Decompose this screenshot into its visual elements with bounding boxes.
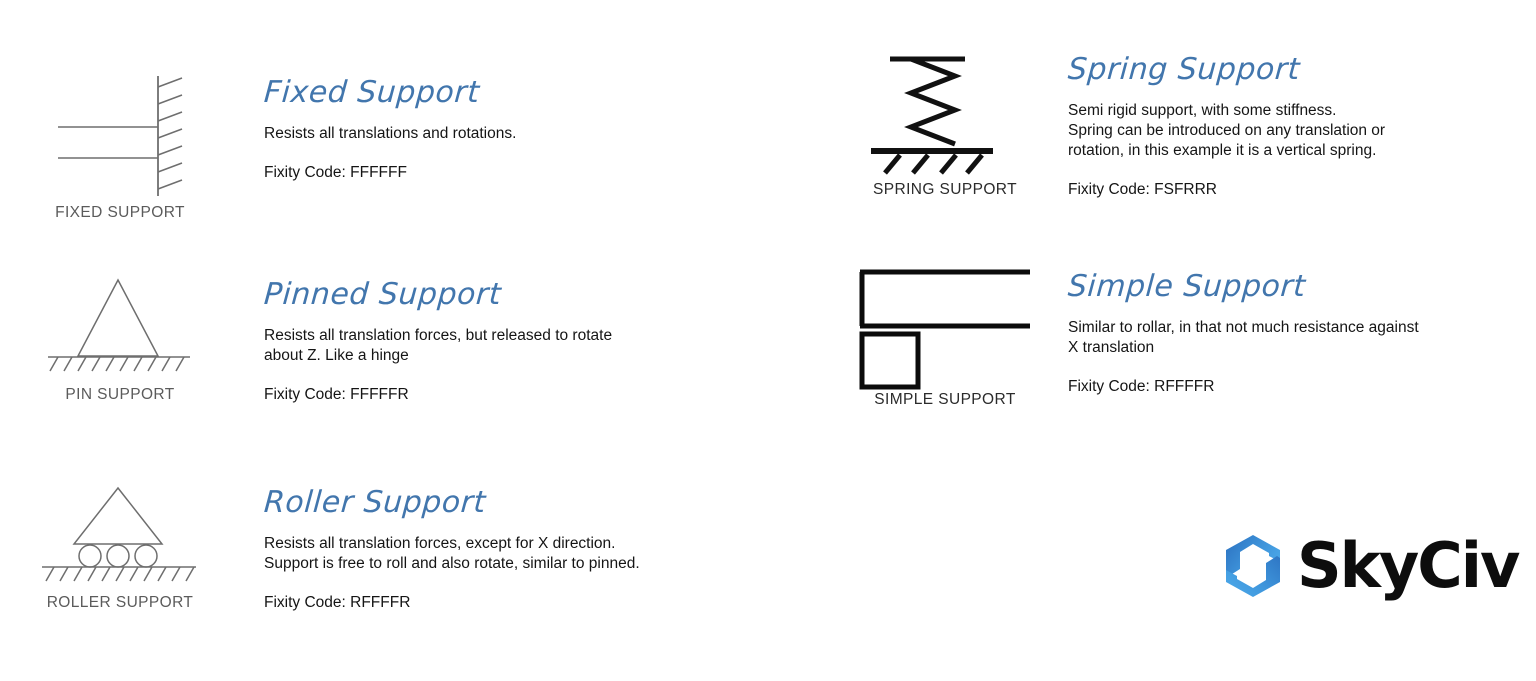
pin-support-text-group: Pinned Support Resists all translation f… <box>264 280 824 405</box>
simple-support-title: Simple Support <box>1067 272 1536 302</box>
simple-support-symbol <box>845 265 1045 390</box>
fixed-support-text-group: Fixed Support Resists all translations a… <box>264 78 824 183</box>
spring-support-fixity-code: Fixity Code: FSFRRR <box>1068 180 1528 200</box>
spring-support-title: Spring Support <box>1067 55 1529 85</box>
simple-support-description: Similar to rollar, in that not much resi… <box>1068 318 1536 358</box>
roller-support-symbol-group: ROLLER SUPPORT <box>10 478 230 612</box>
roller-support-title: Roller Support <box>263 488 865 518</box>
fixed-support-description: Resists all translations and rotations. <box>264 124 824 144</box>
fixed-support-symbol-label: FIXED SUPPORT <box>10 204 230 222</box>
pinned-support-title: Pinned Support <box>263 280 825 310</box>
pinned-support-description: Resists all translation forces, but rele… <box>264 326 824 366</box>
fixed-support-fixity-code: Fixity Code: FFFFFF <box>264 163 824 183</box>
spring-support-symbol-label: SPRING SUPPORT <box>845 181 1045 199</box>
simple-support-symbol-label: SIMPLE SUPPORT <box>845 391 1045 409</box>
pin-support-symbol-group: PIN SUPPORT <box>10 272 230 404</box>
fixed-support-symbol-group: FIXED SUPPORT <box>10 70 230 222</box>
simple-support-text-group: Simple Support Similar to rollar, in tha… <box>1068 272 1536 397</box>
roller-support-symbol-label: ROLLER SUPPORT <box>10 594 230 612</box>
spring-support-text-group: Spring Support Semi rigid support, with … <box>1068 55 1528 201</box>
simple-support-symbol-group: SIMPLE SUPPORT <box>845 265 1045 409</box>
roller-support-description: Resists all translation forces, except f… <box>264 534 864 574</box>
spring-support-description: Semi rigid support, with some stiffness.… <box>1068 101 1528 161</box>
skyciv-wordmark: SkyCiv <box>1297 535 1518 597</box>
spring-support-symbol-group: SPRING SUPPORT <box>845 45 1045 199</box>
fixed-support-title: Fixed Support <box>263 78 825 108</box>
roller-support-symbol <box>10 478 230 590</box>
pinned-support-fixity-code: Fixity Code: FFFFFR <box>264 385 824 405</box>
pin-support-symbol <box>10 272 230 380</box>
skyciv-hex-mark <box>1222 532 1284 600</box>
roller-support-fixity-code: Fixity Code: RFFFFR <box>264 593 864 613</box>
simple-support-fixity-code: Fixity Code: RFFFFR <box>1068 377 1536 397</box>
spring-support-symbol <box>845 45 1045 180</box>
fixed-support-symbol <box>10 70 230 200</box>
roller-support-text-group: Roller Support Resists all translation f… <box>264 488 864 613</box>
pin-support-symbol-label: PIN SUPPORT <box>10 386 230 404</box>
skyciv-logo: SkyCiv <box>1222 532 1518 600</box>
